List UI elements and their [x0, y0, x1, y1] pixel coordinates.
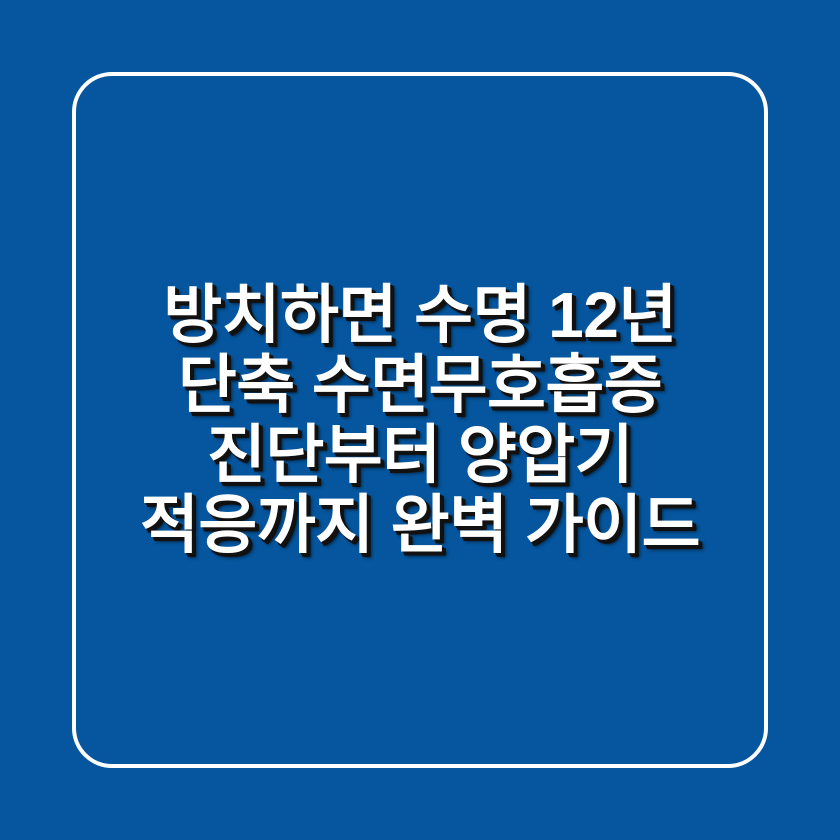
headline-line-4: 적응까지 완벽 가이드 — [0, 490, 840, 560]
thumbnail-canvas: 방치하면 수명 12년 단축 수면무호흡증 진단부터 양압기 적응까지 완벽 가… — [0, 0, 840, 840]
headline-line-2: 단축 수면무호흡증 — [0, 350, 840, 420]
headline-line-1: 방치하면 수명 12년 — [0, 280, 840, 350]
headline-line-3: 진단부터 양압기 — [0, 420, 840, 490]
headline-block: 방치하면 수명 12년 단축 수면무호흡증 진단부터 양압기 적응까지 완벽 가… — [0, 0, 840, 840]
